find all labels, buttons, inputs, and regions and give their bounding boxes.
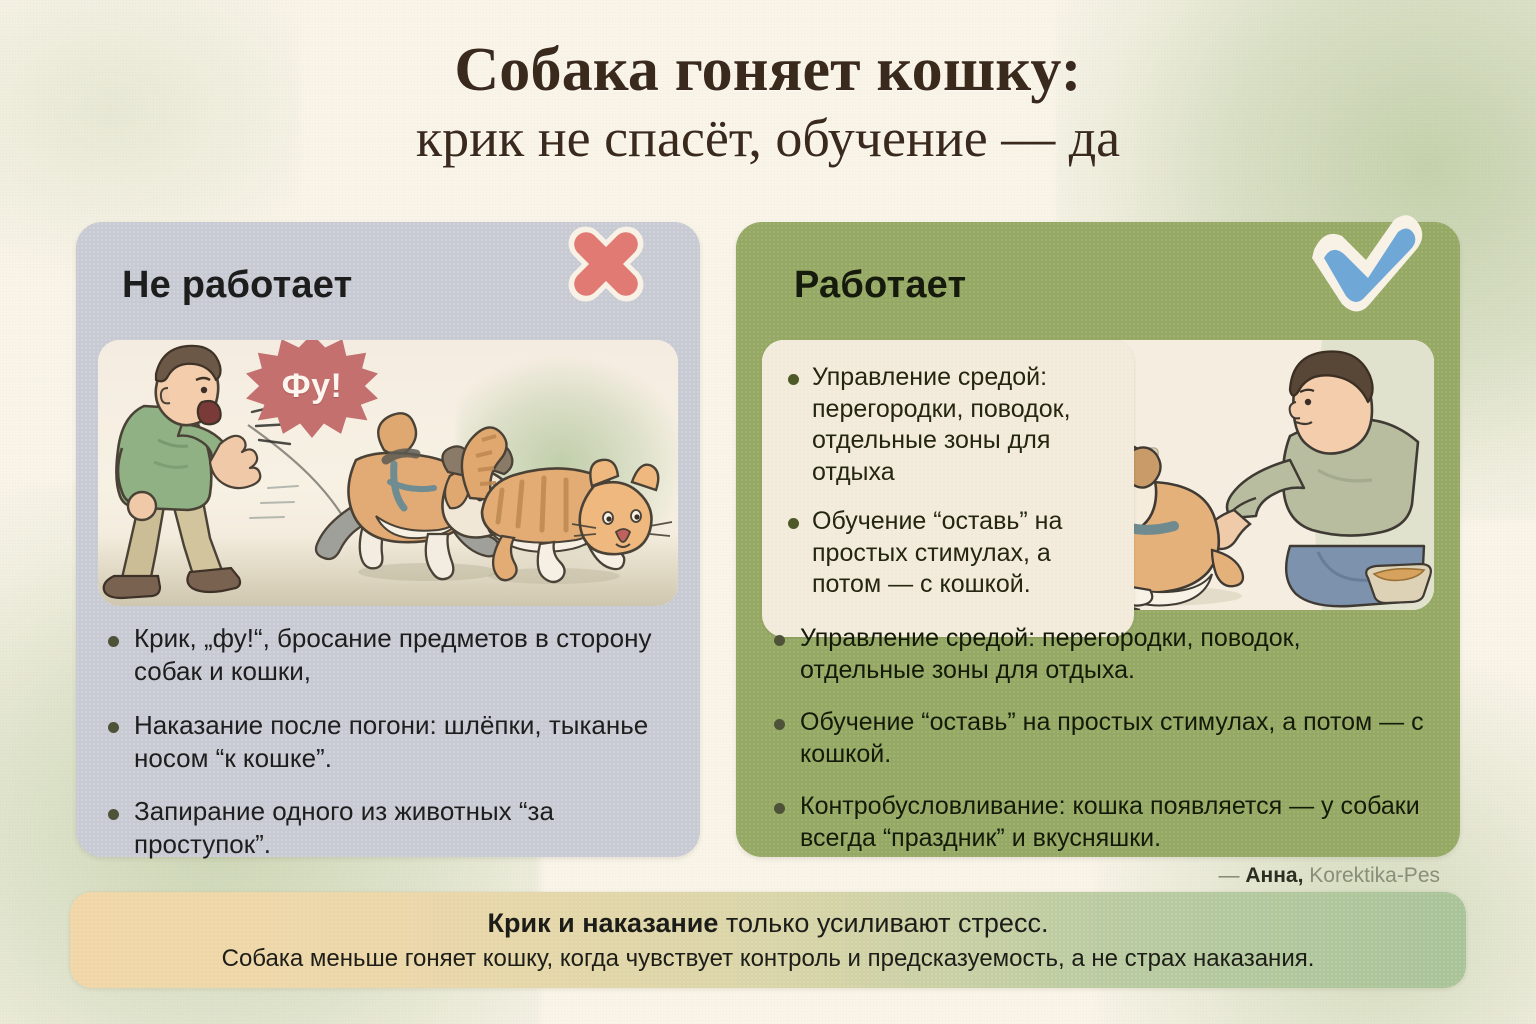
card-not-working: Не работает bbox=[76, 222, 700, 857]
list-item: Управление средой: перегородки, поводок,… bbox=[784, 362, 1116, 488]
list-item: Крик, „фу!“, бросание предметов в сторон… bbox=[104, 622, 670, 689]
not-working-bullet-list: Крик, „фу!“, бросание предметов в сторон… bbox=[104, 622, 670, 862]
check-mark-icon bbox=[1294, 206, 1426, 318]
working-overlay-panel: Управление средой: перегородки, поводок,… bbox=[762, 340, 1134, 637]
comparison-cards: Не работает bbox=[0, 222, 1536, 862]
list-item: Обучение “оставь” на простых стимулах, а… bbox=[770, 706, 1430, 770]
attribution-name: Анна, bbox=[1245, 864, 1303, 887]
working-overlay-bullet-list: Управление средой: перегородки, поводок,… bbox=[784, 362, 1116, 601]
attribution-dash: — bbox=[1219, 864, 1240, 887]
list-item: Запирание одного из животных “за проступ… bbox=[104, 795, 670, 862]
banner-line-2: Собака меньше гоняет кошку, когда чувств… bbox=[222, 945, 1315, 973]
speech-burst: Фу! bbox=[246, 340, 378, 438]
banner-line-1: Крик и наказание только усиливают стресс… bbox=[488, 908, 1049, 939]
card-working: Работает bbox=[736, 222, 1460, 857]
list-item: Управление средой: перегородки, поводок,… bbox=[770, 622, 1430, 686]
summary-banner: Крик и наказание только усиливают стресс… bbox=[70, 892, 1466, 988]
list-item: Контробусловливание: кошка появляется — … bbox=[770, 790, 1430, 854]
food-bowl bbox=[1366, 564, 1431, 603]
list-item: Обучение “оставь” на простых стимулах, а… bbox=[784, 506, 1116, 601]
page-title: Собака гоняет кошку: крик не спасёт, обу… bbox=[0, 38, 1536, 168]
card-working-title: Работает bbox=[794, 264, 966, 307]
cross-mark-icon bbox=[540, 210, 672, 322]
working-bullet-list: Управление средой: перегородки, поводок,… bbox=[770, 622, 1430, 854]
cat-figure bbox=[462, 427, 672, 584]
title-line-1: Собака гоняет кошку: bbox=[0, 38, 1536, 104]
illustration-man-yelling-dog-chasing-cat: Фу! bbox=[98, 340, 678, 606]
title-line-2: крик не спасёт, обучение — да bbox=[0, 108, 1536, 168]
card-not-working-title: Не работает bbox=[122, 264, 352, 307]
infographic-page: Собака гоняет кошку: крик не спасёт, обу… bbox=[0, 0, 1536, 1024]
man-figure bbox=[104, 346, 261, 598]
list-item: Наказание после погони: шлёпки, тыканье … bbox=[104, 709, 670, 776]
banner-line-1-rest: только усиливают стресс. bbox=[718, 908, 1048, 938]
scene-artwork bbox=[98, 340, 678, 606]
attribution: — Анна, Korektika-Pes bbox=[1219, 864, 1440, 888]
attribution-brand: Korektika-Pes bbox=[1309, 864, 1440, 887]
banner-line-1-bold: Крик и наказание bbox=[488, 908, 719, 938]
speech-burst-text: Фу! bbox=[282, 367, 343, 406]
